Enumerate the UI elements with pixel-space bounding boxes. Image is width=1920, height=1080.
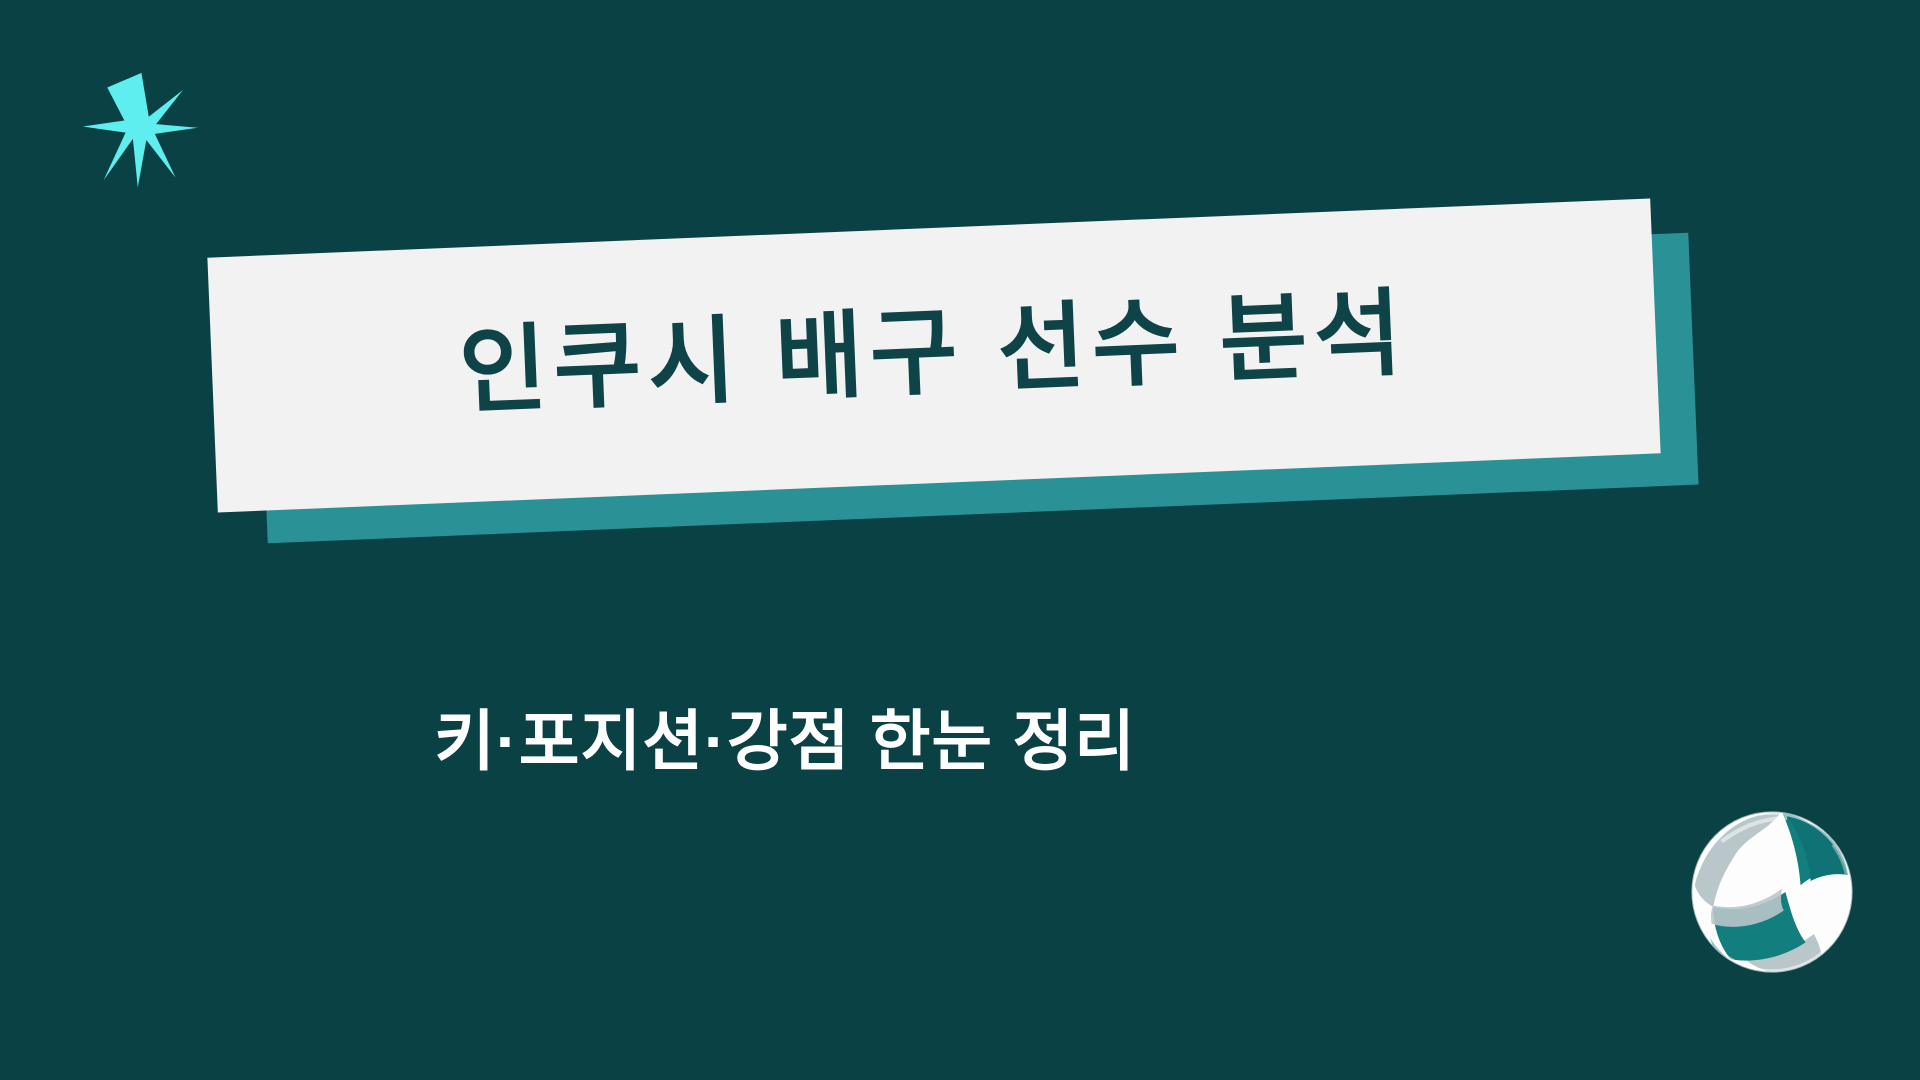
volleyball-icon xyxy=(1688,808,1856,976)
page-subtitle: 키·포지션·강점 한눈 정리 xyxy=(0,705,1570,778)
title-card: 인쿠시 배구 선수 분석 xyxy=(207,199,1660,513)
sparkle-star-icon xyxy=(78,68,200,190)
title-card-stack: 인쿠시 배구 선수 분석 xyxy=(0,0,1920,1080)
title-slide: 인쿠시 배구 선수 분석 키·포지션·강점 한눈 정리 xyxy=(0,0,1920,1080)
page-title: 인쿠시 배구 선수 분석 xyxy=(457,287,1410,421)
